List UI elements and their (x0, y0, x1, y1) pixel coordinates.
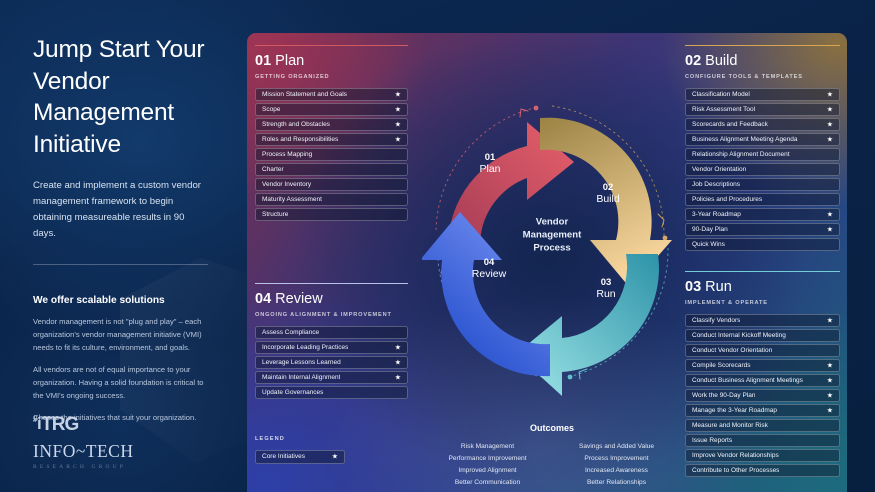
segment-arrow-review (422, 212, 550, 376)
list-item-label: Work the 90-Day Plan (692, 392, 755, 399)
list-item-label: Mission Statement and Goals (262, 91, 347, 98)
list-item-label: Incorporate Leading Practices (262, 344, 348, 351)
list-item[interactable]: 3-Year Roadmap★ (685, 208, 840, 222)
list-item[interactable]: Business Alignment Meeting Agenda★ (685, 133, 840, 147)
list-item-label: Contribute to Other Processes (692, 467, 779, 474)
list-item[interactable]: Compile Scorecards★ (685, 359, 840, 373)
list-item[interactable]: Conduct Business Alignment Meetings★ (685, 374, 840, 388)
outcome-item: Process Improvement (556, 455, 677, 462)
list-item-label: Roles and Responsibilities (262, 136, 338, 143)
section-name-review: Review (275, 291, 323, 307)
outcomes-block: Outcomes Risk ManagementSavings and Adde… (427, 423, 677, 486)
section-number-run: 03 (685, 279, 701, 295)
star-icon: ★ (395, 359, 401, 366)
divider (33, 264, 208, 265)
outcome-item: Better Communication (427, 479, 548, 486)
section-accent-rule-plan (255, 45, 408, 46)
list-item[interactable]: Scope★ (255, 103, 408, 117)
legend-core-initiatives: Core Initiatives ★ (255, 450, 345, 464)
list-item[interactable]: Contribute to Other Processes (685, 464, 840, 478)
infographic-root: Jump Start Your Vendor Management Initia… (0, 0, 875, 492)
list-item[interactable]: Manage the 3-Year Roadmap★ (685, 404, 840, 418)
outcome-item: Better Relationships (556, 479, 677, 486)
list-item-label: Classify Vendors (692, 317, 740, 324)
section-subtitle-review: ONGOING ALIGNMENT & IMPROVEMENT (255, 312, 408, 318)
list-item[interactable]: Leverage Lessons Learned★ (255, 356, 408, 370)
list-item-label: Assess Compliance (262, 329, 319, 336)
list-item-label: Structure (262, 211, 288, 218)
list-item-label: Risk Assessment Tool (692, 106, 755, 113)
section-build: 02 Build CONFIGURE TOOLS & TEMPLATES Cla… (685, 45, 840, 251)
list-item[interactable]: Improve Vendor Relationships (685, 449, 840, 463)
list-item[interactable]: Update Governances (255, 386, 408, 400)
legend: LEGEND Core Initiatives ★ (255, 436, 355, 464)
list-item[interactable]: Measure and Monitor Risk (685, 419, 840, 433)
star-icon: ★ (827, 136, 833, 143)
list-item[interactable]: Vendor Inventory (255, 178, 408, 192)
list-item-label: Vendor Orientation (692, 166, 746, 173)
legend-entry-label: Core Initiatives (262, 453, 305, 460)
list-item-label: 3-Year Roadmap (692, 211, 741, 218)
star-icon: ★ (827, 392, 833, 399)
list-item-label: Measure and Monitor Risk (692, 422, 768, 429)
outcomes-grid: Risk ManagementSavings and Added ValuePe… (427, 443, 677, 486)
list-item[interactable]: Classification Model★ (685, 88, 840, 102)
list-item[interactable]: Mission Statement and Goals★ (255, 88, 408, 102)
initiative-list-review: Assess ComplianceIncorporate Leading Pra… (255, 326, 408, 400)
list-item[interactable]: Conduct Internal Kickoff Meeting (685, 329, 840, 343)
star-icon: ★ (827, 226, 833, 233)
list-item-label: Leverage Lessons Learned (262, 359, 341, 366)
star-icon: ★ (827, 211, 833, 218)
list-item-label: Job Descriptions (692, 181, 740, 188)
list-item-label: Business Alignment Meeting Agenda (692, 136, 798, 143)
vendor-management-process-diagram: Vendor Management Process 01 Plan 02 Bui… (422, 88, 682, 398)
list-item-label: Quick Wins (692, 241, 725, 248)
star-icon: ★ (395, 136, 401, 143)
outcome-item: Savings and Added Value (556, 443, 677, 450)
initiative-list-plan: Mission Statement and Goals★Scope★Streng… (255, 88, 408, 222)
star-icon: ★ (827, 121, 833, 128)
outcome-item: Performance Improvement (427, 455, 548, 462)
body-paragraph-2: All vendors are not of equal importance … (33, 363, 210, 402)
list-item[interactable]: Work the 90-Day Plan★ (685, 389, 840, 403)
body-paragraph-1: Vendor management is not "plug and play"… (33, 315, 210, 354)
list-item-label: Classification Model (692, 91, 750, 98)
infotech-logo: INFO~TECH (33, 443, 134, 461)
list-item[interactable]: Scorecards and Feedback★ (685, 118, 840, 132)
star-icon: ★ (395, 374, 401, 381)
list-item[interactable]: Relationship Alignment Document (685, 148, 840, 162)
list-item-label: Update Governances (262, 389, 323, 396)
list-item-label: Maturity Assessment (262, 196, 322, 203)
star-icon: ★ (827, 106, 833, 113)
scalable-solutions-heading: We offer scalable solutions (33, 295, 210, 306)
main-panel: Vendor Management Process 01 Plan 02 Bui… (247, 33, 847, 492)
outcome-item: Risk Management (427, 443, 548, 450)
legend-title: LEGEND (255, 436, 355, 442)
section-run: 03 Run IMPLEMENT & OPERATE Classify Vend… (685, 271, 840, 477)
list-item[interactable]: Classify Vendors★ (685, 314, 840, 328)
section-title-review: 04 Review (255, 292, 408, 308)
list-item[interactable]: Policies and Procedures (685, 193, 840, 207)
list-item[interactable]: Issue Reports (685, 434, 840, 448)
list-item-label: Conduct Vendor Orientation (692, 347, 772, 354)
section-subtitle-build: CONFIGURE TOOLS & TEMPLATES (685, 74, 840, 80)
list-item-label: Policies and Procedures (692, 196, 762, 203)
list-item[interactable]: Structure (255, 208, 408, 222)
list-item-label: Conduct Internal Kickoff Meeting (692, 332, 786, 339)
star-icon: ★ (395, 91, 401, 98)
section-number-build: 02 (685, 53, 701, 69)
star-icon: ★ (395, 121, 401, 128)
ring-dot-plan (534, 106, 539, 111)
cycle-diagram-svg (422, 88, 682, 398)
page-subtitle: Create and implement a custom vendor man… (33, 178, 210, 241)
section-title-plan: 01 Plan (255, 54, 408, 70)
initiative-list-run: Classify Vendors★Conduct Internal Kickof… (685, 314, 840, 478)
list-item-label: Process Mapping (262, 151, 312, 158)
section-number-review: 04 (255, 291, 271, 307)
section-title-build: 02 Build (685, 54, 840, 70)
list-item-label: Scope (262, 106, 280, 113)
star-icon: ★ (395, 344, 401, 351)
star-icon: ★ (332, 453, 338, 460)
section-number-plan: 01 (255, 53, 271, 69)
star-icon: ★ (827, 377, 833, 384)
section-subtitle-plan: GETTING ORGANIZED (255, 74, 408, 80)
list-item[interactable]: 90-Day Plan★ (685, 223, 840, 237)
list-item-label: Conduct Business Alignment Meetings (692, 377, 803, 384)
list-item[interactable]: Maturity Assessment (255, 193, 408, 207)
list-item[interactable]: Conduct Vendor Orientation (685, 344, 840, 358)
star-icon: ★ (827, 317, 833, 324)
list-item-label: Issue Reports (692, 437, 732, 444)
section-review: 04 Review ONGOING ALIGNMENT & IMPROVEMEN… (255, 283, 408, 399)
list-item[interactable]: Quick Wins (685, 238, 840, 252)
list-item[interactable]: Risk Assessment Tool★ (685, 103, 840, 117)
star-icon: ★ (827, 91, 833, 98)
list-item-label: Scorecards and Feedback (692, 121, 768, 128)
outcome-item: Increased Awareness (556, 467, 677, 474)
ring-dot-run (568, 375, 573, 380)
list-item[interactable]: Strength and Obstacles★ (255, 118, 408, 132)
initiative-list-build: Classification Model★Risk Assessment Too… (685, 88, 840, 252)
section-title-run: 03 Run (685, 280, 840, 296)
list-item[interactable]: Assess Compliance (255, 326, 408, 340)
list-item-label: Manage the 3-Year Roadmap (692, 407, 777, 414)
section-name-run: Run (705, 279, 732, 295)
list-item[interactable]: Vendor Orientation (685, 163, 840, 177)
section-name-plan: Plan (275, 53, 304, 69)
section-plan: 01 Plan GETTING ORGANIZED Mission Statem… (255, 45, 408, 221)
outcome-item: Improved Alignment (427, 467, 548, 474)
list-item-label: Relationship Alignment Document (692, 151, 790, 158)
list-item[interactable]: Maintain Internal Alignment★ (255, 371, 408, 385)
section-subtitle-run: IMPLEMENT & OPERATE (685, 300, 840, 306)
section-accent-rule-review (255, 283, 408, 284)
section-accent-rule-build (685, 45, 840, 46)
logo-group: # i TRG INFO~TECH RESEARCH GROUP (33, 415, 134, 470)
list-item[interactable]: Incorporate Leading Practices★ (255, 341, 408, 355)
star-icon: ★ (827, 407, 833, 414)
list-item-label: Vendor Inventory (262, 181, 311, 188)
section-accent-rule-run (685, 271, 840, 272)
list-item-label: 90-Day Plan (692, 226, 728, 233)
itrg-logo: # i TRG (33, 415, 134, 434)
list-item[interactable]: Charter (255, 163, 408, 177)
list-item-label: Improve Vendor Relationships (692, 452, 779, 459)
ring-dot-build (663, 236, 668, 241)
star-icon: ★ (395, 106, 401, 113)
page-title: Jump Start Your Vendor Management Initia… (33, 34, 210, 160)
list-item[interactable]: Roles and Responsibilities★ (255, 133, 408, 147)
outcomes-title: Outcomes (427, 423, 677, 433)
star-icon: ★ (827, 362, 833, 369)
list-item[interactable]: Process Mapping (255, 148, 408, 162)
list-item-label: Strength and Obstacles (262, 121, 330, 128)
list-item-label: Maintain Internal Alignment (262, 374, 340, 381)
list-item[interactable]: Job Descriptions (685, 178, 840, 192)
infotech-logo-subtitle: RESEARCH GROUP (33, 464, 134, 470)
section-name-build: Build (705, 53, 737, 69)
list-item-label: Compile Scorecards (692, 362, 751, 369)
itrg-logo-trg: TRG (41, 415, 78, 434)
list-item-label: Charter (262, 166, 284, 173)
